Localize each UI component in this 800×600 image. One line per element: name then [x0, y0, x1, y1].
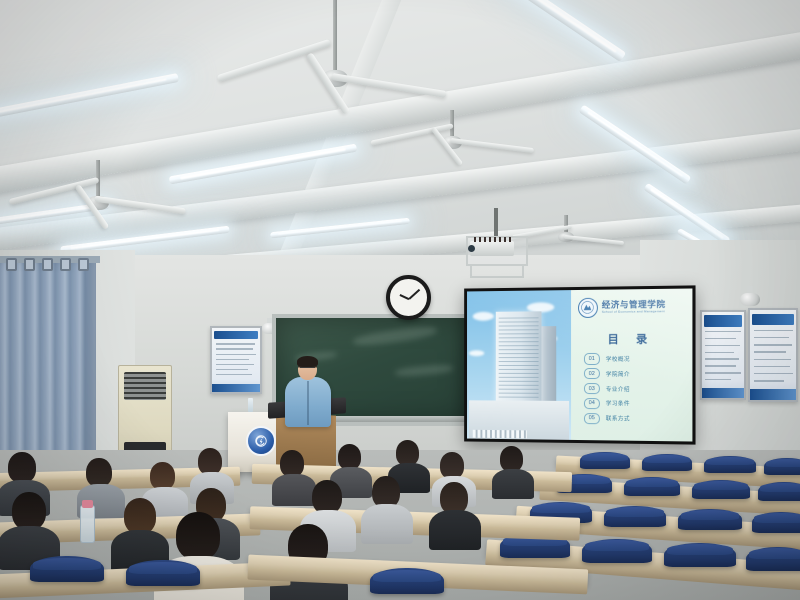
- poster-header: [752, 314, 794, 326]
- clock-hand-hour: [399, 293, 409, 299]
- slide-title: 目 录: [571, 330, 693, 347]
- projector-body: [470, 241, 514, 256]
- ceiling-fan-2: [36, 160, 186, 250]
- toc-item: 03 专业介绍: [584, 383, 630, 395]
- bottle-cap: [82, 500, 93, 508]
- wall-clock: [386, 275, 431, 320]
- building-wing: [539, 326, 556, 404]
- slide-org-name-en: School of Economics and Management: [602, 310, 666, 314]
- poster-left: [210, 326, 262, 394]
- lectern-bottle: [248, 398, 253, 412]
- chair: [604, 506, 666, 527]
- lecture-hall-photo: 经济与管理学院 School of Economics and Manageme…: [0, 0, 800, 600]
- building-base: [469, 400, 569, 440]
- slide-illustration: [467, 290, 571, 440]
- curtain-ring: [78, 258, 89, 271]
- toc-item: 04 学习条件: [584, 398, 630, 410]
- chair: [746, 547, 800, 571]
- campus-tower: [496, 311, 542, 403]
- fan-blade: [331, 73, 447, 98]
- toc-number: 01: [584, 353, 600, 365]
- projection-screen: 经济与管理学院 School of Economics and Manageme…: [464, 285, 695, 444]
- chair: [704, 456, 756, 473]
- poster-header: [214, 331, 258, 339]
- slide-logo: 经济与管理学院 School of Economics and Manageme…: [578, 296, 666, 317]
- slide-content: 经济与管理学院 School of Economics and Manageme…: [571, 288, 693, 441]
- slide-toc-list: 01 学校概况 02 学院简介 03 专业介绍 04: [584, 353, 630, 425]
- ceiling-fan-3: [390, 110, 540, 200]
- presenter-hair: [297, 356, 318, 367]
- toc-label: 学校概况: [606, 355, 630, 363]
- toc-number: 05: [584, 413, 600, 425]
- chair: [664, 543, 736, 567]
- toc-item: 05 联系方式: [584, 413, 630, 425]
- chair: [30, 556, 104, 582]
- poster-footer: [212, 384, 260, 392]
- poster-right-2: [748, 308, 798, 402]
- curtain-ring: [6, 258, 17, 271]
- projector-lens: [468, 245, 475, 252]
- curtain-ring: [42, 258, 53, 271]
- poster-footer: [702, 388, 744, 398]
- presenter-torso: [285, 377, 331, 427]
- toc-item: 02 学院简介: [584, 368, 630, 380]
- presenter-glasses: [300, 367, 315, 372]
- chair: [758, 482, 800, 501]
- ac-grille: [124, 372, 166, 400]
- toc-label: 学习条件: [606, 400, 630, 408]
- toc-label: 专业介绍: [606, 385, 630, 393]
- chair: [752, 512, 800, 533]
- projected-slide: 经济与管理学院 School of Economics and Manageme…: [467, 288, 692, 441]
- ceiling-projector: [466, 236, 528, 266]
- light-tube-6: [496, 0, 627, 62]
- poster-right-1: [700, 310, 746, 400]
- chair: [678, 509, 742, 530]
- chair: [692, 480, 750, 499]
- slide-org-name-cn: 经济与管理学院: [602, 300, 666, 309]
- clock-hand-minute: [408, 288, 419, 299]
- chair: [580, 452, 630, 469]
- university-emblem-icon: [246, 426, 276, 456]
- projector-pole: [494, 208, 498, 238]
- chair: [126, 560, 200, 586]
- ceiling-fan-1: [245, 0, 425, 110]
- chair: [764, 458, 800, 475]
- chair: [370, 568, 444, 594]
- curtain-ring: [24, 258, 35, 271]
- water-bottle[interactable]: [80, 505, 95, 543]
- curtain-ring: [60, 258, 71, 271]
- chair: [582, 539, 652, 563]
- toc-number: 02: [584, 368, 600, 380]
- toc-number: 04: [584, 398, 600, 410]
- security-camera-right: [740, 286, 760, 304]
- poster-footer: [750, 389, 796, 400]
- toc-number: 03: [584, 383, 600, 395]
- toc-label: 联系方式: [606, 415, 630, 423]
- light-tube-1: [0, 73, 179, 120]
- toc-label: 学院简介: [606, 370, 630, 378]
- window-curtain[interactable]: [0, 258, 96, 473]
- projector-cables: [474, 237, 514, 242]
- poster-header: [704, 315, 743, 326]
- toc-item: 01 学校概况: [584, 353, 630, 365]
- projector-mount-frame: [470, 264, 524, 278]
- chair: [642, 454, 692, 471]
- chair: [624, 477, 680, 496]
- university-crest-icon: [578, 297, 598, 317]
